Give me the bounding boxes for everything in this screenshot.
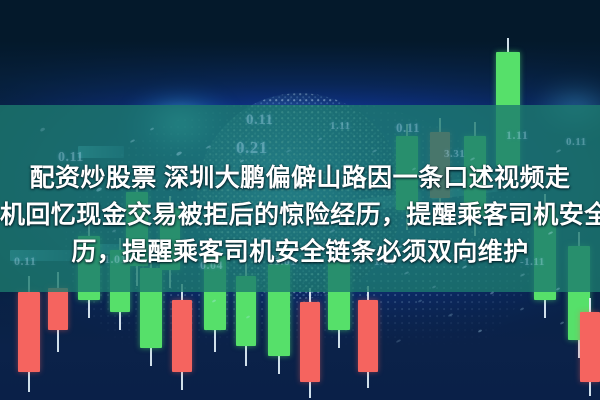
candle-body (580, 312, 600, 382)
candlestick-down (172, 284, 192, 390)
ghost-number: 3.31 (444, 148, 465, 160)
headline-line-2: 机回忆现金交易被拒后的惊险经历，提醒乘客司机安全 (0, 197, 600, 234)
candle-body (300, 302, 320, 382)
candlestick-down (580, 298, 600, 396)
candlestick-down (358, 286, 378, 388)
candle-body (358, 300, 378, 372)
candle-body (48, 288, 68, 330)
ghost-number: 1.11 (330, 120, 351, 132)
ghost-number: 0.11 (246, 112, 273, 129)
ghost-number: 1.11 (506, 128, 528, 143)
candle-body (172, 300, 192, 372)
ghost-number: 0.21 (236, 138, 268, 158)
ghost-number: 0.11 (566, 136, 587, 148)
candlestick-down (300, 288, 320, 398)
candlestick-down (18, 276, 40, 392)
candle-body (18, 292, 40, 372)
banner-image: 0.110.110.210.111.110.111.010.0411.011.0… (0, 0, 600, 400)
headline-line-1: 配资炒股票 深圳大鹏偏僻山路因一条口述视频走 (0, 160, 600, 197)
ghost-number: 0.11 (396, 120, 420, 136)
headline-line-3: 历，提醒乘客司机安全链条必须双向维护 (0, 234, 600, 271)
